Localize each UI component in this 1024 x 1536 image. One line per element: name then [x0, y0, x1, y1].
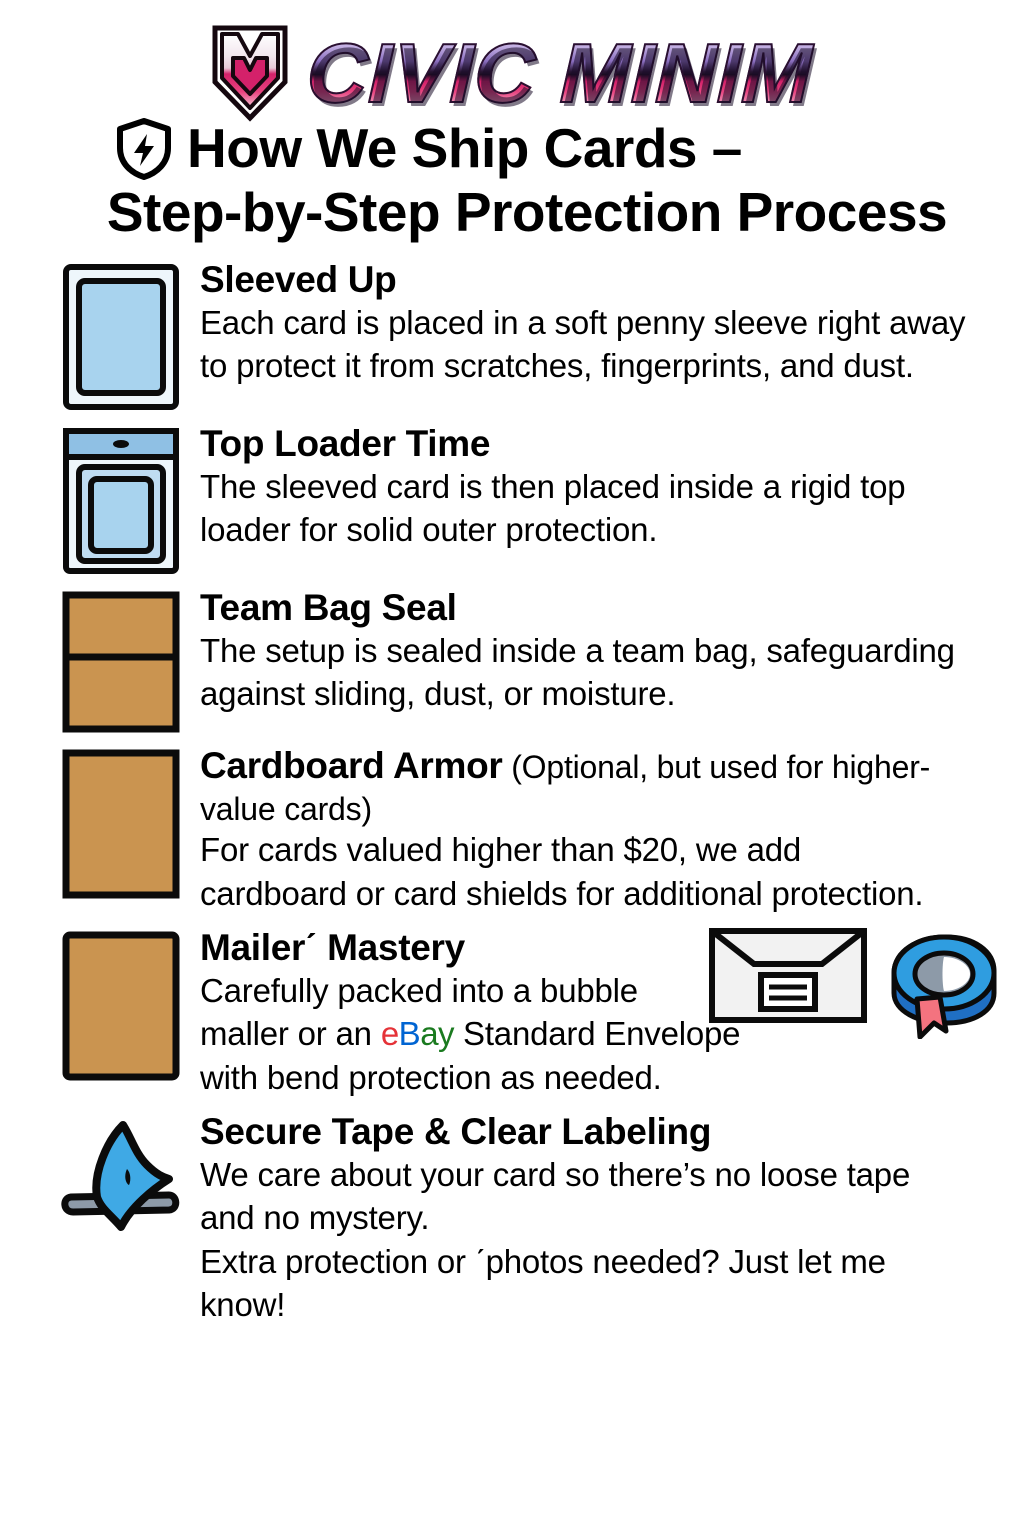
step-description-line: with bend protection as needed. — [200, 1056, 1002, 1100]
steps-list: Sleeved Up Each card is placed in a soft… — [0, 259, 1024, 1327]
step-description-line: The sleeved card is then placed inside a… — [200, 465, 1002, 509]
step-description-line: know! — [200, 1283, 1002, 1327]
step-description-line: cardboard or card shields for additional… — [200, 872, 1002, 916]
step-text: Secure Tape & Clear Labeling We care abo… — [200, 1111, 1002, 1327]
step-description-line: For cards valued higher than $20, we add — [200, 828, 1002, 872]
step-icon-slot — [60, 745, 182, 899]
step-icon-slot — [60, 587, 182, 733]
step-heading: Sleeved Up — [200, 259, 1002, 300]
step-heading-row: Cardboard Armor (Optional, but used for … — [200, 745, 1002, 828]
step-icon-slot — [60, 927, 182, 1081]
step-item: Sleeved Up Each card is placed in a soft… — [60, 259, 1002, 411]
step-text: Cardboard Armor (Optional, but used for … — [200, 745, 1002, 915]
step-description-line: and no mystery. — [200, 1196, 1002, 1240]
title-line-1: How We Ship Cards – — [187, 120, 742, 177]
step-item: Top Loader Time The sleeved card is then… — [60, 423, 1002, 575]
step-description: We care about your card so there’s no lo… — [200, 1153, 1002, 1327]
step-description: For cards valued higher than $20, we add… — [200, 828, 1002, 915]
step-item: Cardboard Armor (Optional, but used for … — [60, 745, 1002, 915]
ebay-letter-y: y — [438, 1015, 454, 1052]
step-icon-slot — [60, 1111, 182, 1235]
page-title: How We Ship Cards – Step-by-Step Protect… — [0, 118, 1024, 241]
step-heading: Secure Tape & Clear Labeling — [200, 1111, 1002, 1152]
top-loader-icon — [62, 427, 180, 575]
ebay-letter-e: e — [381, 1015, 399, 1052]
step-heading: Cardboard Armor — [200, 745, 503, 786]
title-line-2: Step-by-Step Protection Process — [30, 184, 994, 241]
brand-wordmark: CIVIC MINIM — [306, 31, 815, 115]
step-description-line: Each card is placed in a soft penny slee… — [200, 301, 1002, 345]
cardboard-armor-icon — [62, 749, 180, 899]
penny-sleeve-icon — [62, 263, 180, 411]
step-item: Mailerˊ Mastery Carefully packed into a … — [60, 927, 1002, 1099]
step-description: The sleeved card is then placed inside a… — [200, 465, 1002, 552]
step-description: Each card is placed in a soft penny slee… — [200, 301, 1002, 388]
step-description: The setup is sealed inside a team bag, s… — [200, 629, 1002, 716]
tape-dispenser-icon — [57, 1115, 185, 1235]
step-icon-slot — [60, 259, 182, 411]
step-text: Sleeved Up Each card is placed in a soft… — [200, 259, 1002, 388]
step-text: Team Bag Seal The setup is sealed inside… — [200, 587, 1002, 716]
step-description-line: against sliding, dust, or moisture. — [200, 672, 1002, 716]
step-heading: Top Loader Time — [200, 423, 1002, 464]
step-description-line: We care about your card so there’s no lo… — [200, 1153, 1002, 1197]
ebay-letter-a: a — [420, 1015, 438, 1052]
step-item: Team Bag Seal The setup is sealed inside… — [60, 587, 1002, 733]
step-description-line: The setup is sealed inside a team bag, s… — [200, 629, 1002, 673]
team-bag-icon — [62, 591, 180, 733]
tape-roll-icon — [884, 927, 1002, 1039]
title-line-1-row: How We Ship Cards – — [30, 118, 994, 180]
envelope-icon — [708, 927, 868, 1024]
shield-m-monogram-icon — [211, 24, 289, 122]
step-text: Top Loader Time The sleeved card is then… — [200, 423, 1002, 552]
step-description-line: loader for solid outer protection. — [200, 508, 1002, 552]
brand-header: CIVIC MINIM — [0, 0, 1024, 100]
step-description-line: Extra protection or ˊphotos needed? Just… — [200, 1240, 1002, 1284]
step-icon-slot — [60, 423, 182, 575]
step-description-line: to protect it from scratches, fingerprin… — [200, 344, 1002, 388]
ebay-letter-b: B — [399, 1015, 421, 1052]
ebay-logo-text: eBay — [381, 1015, 454, 1052]
step-item: Secure Tape & Clear Labeling We care abo… — [60, 1111, 1002, 1327]
shield-bolt-icon — [115, 118, 173, 180]
mailer-artwork — [708, 927, 1002, 1039]
step-heading: Team Bag Seal — [200, 587, 1002, 628]
bubble-mailer-icon — [62, 931, 180, 1081]
